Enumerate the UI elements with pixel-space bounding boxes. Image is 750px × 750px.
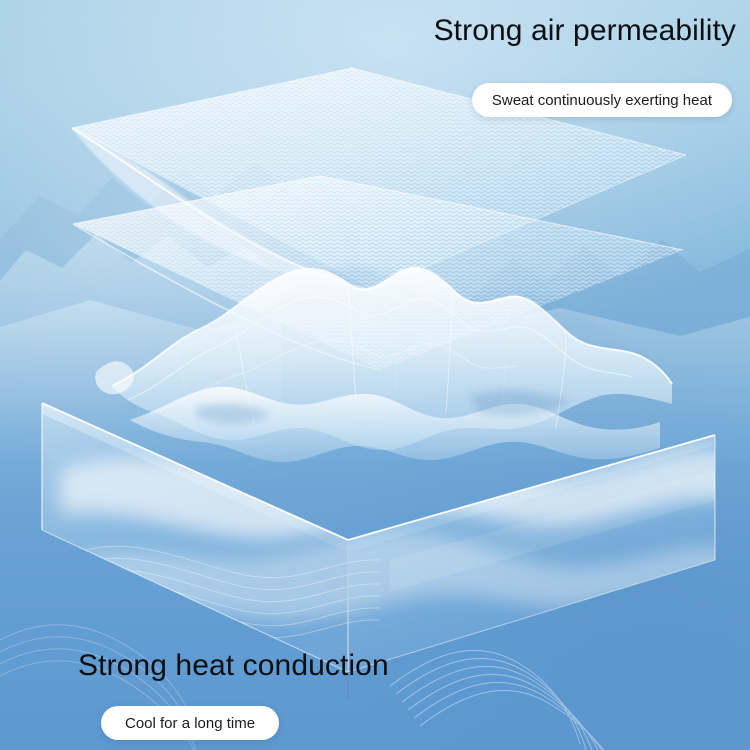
page-title-top: Strong air permeability <box>434 16 736 46</box>
promo-graphic: Strong air permeability Sweat continuous… <box>0 0 750 750</box>
wavy-fabric-terrain <box>95 266 672 462</box>
page-title-bottom: Strong heat conduction <box>78 651 389 681</box>
foreground-ripple-texture <box>390 650 604 750</box>
badge-sweat-heat: Sweat continuously exerting heat <box>472 83 732 117</box>
badge-cool-long-time: Cool for a long time <box>101 706 279 740</box>
